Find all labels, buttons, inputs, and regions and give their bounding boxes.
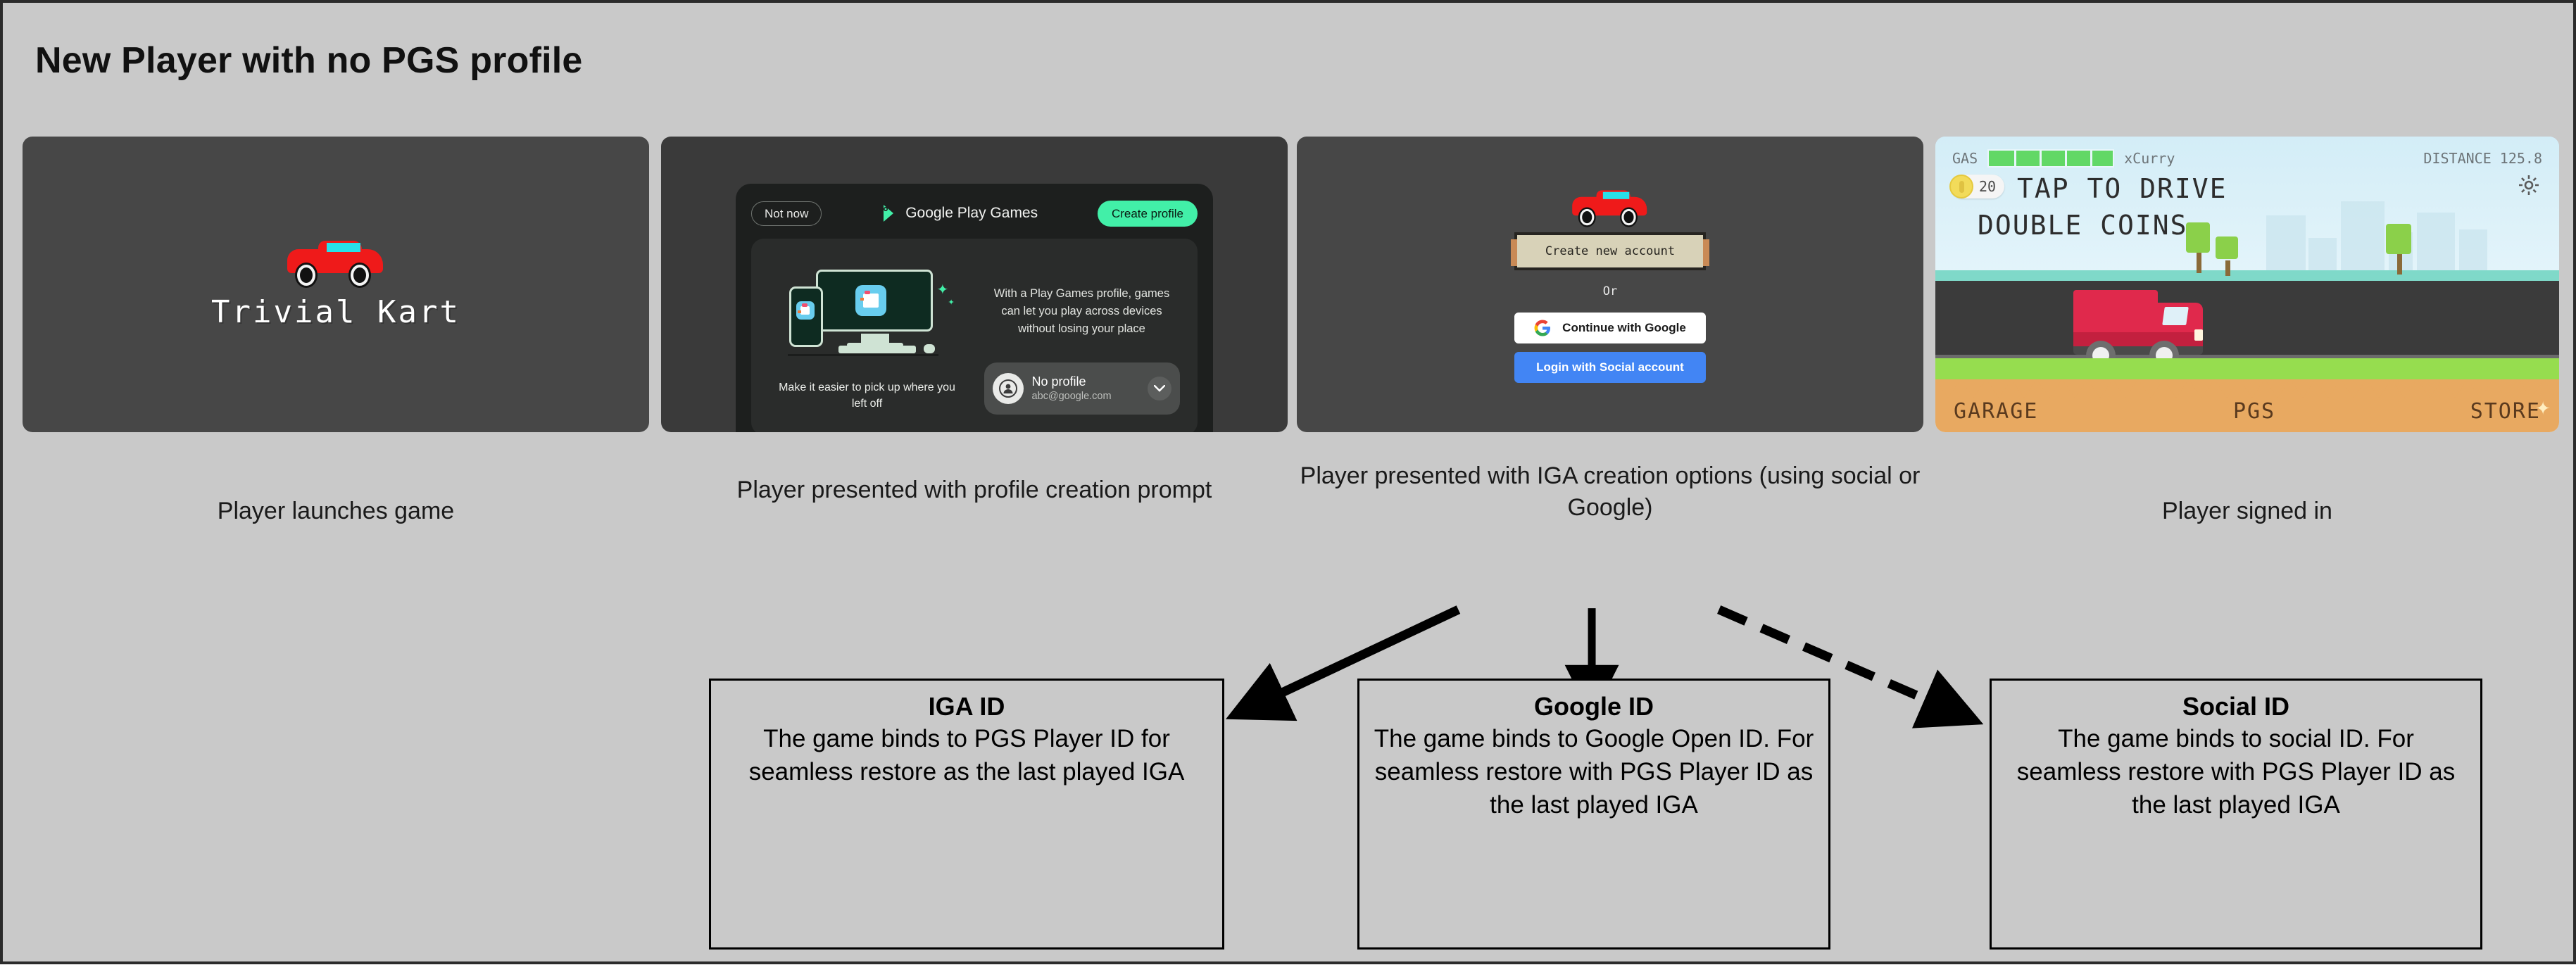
- pixel-car-icon: [283, 239, 389, 283]
- panel-splash-screen: Trivial Kart: [23, 137, 649, 432]
- profile-blurb: With a Play Games profile, games can let…: [984, 285, 1181, 337]
- create-profile-button[interactable]: Create profile: [1098, 201, 1198, 227]
- coin-icon: [1949, 175, 1973, 198]
- tree-icon: [2216, 236, 2238, 276]
- social-id-body: The game binds to social ID. For seamles…: [2004, 723, 2468, 822]
- diagram-canvas: New Player with no PGS profile Trivial K…: [0, 0, 2576, 964]
- coin-count: 20: [1979, 178, 1996, 195]
- chevron-down-icon[interactable]: [1148, 377, 1171, 400]
- cross-device-illustration: ✦ ✦: [779, 270, 955, 361]
- tree-icon: [2386, 224, 2411, 275]
- game-app-icon: [855, 285, 886, 316]
- pgs-bottom-sheet: Not now Google Play Games Create profile: [736, 184, 1213, 432]
- google-play-games-brand: Google Play Games: [881, 204, 1038, 222]
- caption-panel-3: Player presented with IGA creation optio…: [1297, 460, 1923, 524]
- gas-bar: [1987, 149, 2114, 168]
- not-now-button[interactable]: Not now: [751, 201, 822, 226]
- google-button-label: Continue with Google: [1562, 321, 1686, 335]
- player-name: xCurry: [2124, 150, 2175, 167]
- profile-name: No profile: [1032, 374, 1139, 390]
- google-id-box: Google ID The game binds to Google Open …: [1357, 679, 1830, 950]
- profile-email: abc@google.com: [1032, 390, 1139, 403]
- gas-label: GAS: [1952, 150, 1978, 167]
- social-id-box: Social ID The game binds to social ID. F…: [1990, 679, 2482, 950]
- nav-pgs-button[interactable]: PGS: [2233, 399, 2275, 424]
- illustration-column: ✦ ✦ Make it easier to pick up where you …: [765, 257, 969, 432]
- pgs-sheet-body: ✦ ✦ Make it easier to pick up where you …: [751, 239, 1198, 432]
- profile-column: With a Play Games profile, games can let…: [980, 257, 1183, 432]
- play-games-logo-icon: [881, 204, 898, 222]
- google-g-icon: [1534, 320, 1551, 336]
- login-with-social-button[interactable]: Login with Social account: [1514, 352, 1706, 383]
- panel-pgs-profile-prompt: Not now Google Play Games Create profile: [661, 137, 1288, 432]
- gas-gauge: GAS xCurry: [1952, 149, 2175, 168]
- profile-selector[interactable]: No profile abc@google.com: [984, 362, 1180, 415]
- nav-garage-button[interactable]: GARAGE: [1954, 399, 2038, 424]
- splash-content: Trivial Kart: [23, 137, 649, 432]
- panel-signed-in-game: GAS xCurry DISTANCE 125.8 20 TAP TO DRIV…: [1935, 137, 2559, 432]
- iga-id-title: IGA ID: [724, 690, 1210, 723]
- iga-id-body: The game binds to PGS Player ID for seam…: [724, 723, 1210, 789]
- tree-icon: [2186, 222, 2210, 273]
- pgs-sheet-header: Not now Google Play Games Create profile: [751, 194, 1198, 233]
- iga-options-content: Create new account Or Continue with Goog…: [1297, 137, 1923, 432]
- iga-id-box: IGA ID The game binds to PGS Player ID f…: [709, 679, 1224, 950]
- sparkle-icon: ✦: [937, 281, 949, 298]
- road: [1935, 281, 2559, 358]
- continue-with-google-button[interactable]: Continue with Google: [1514, 313, 1706, 343]
- game-hud-top: GAS xCurry DISTANCE 125.8: [1952, 149, 2542, 168]
- sparkle-icon-small: ✦: [948, 298, 955, 307]
- game-app-icon-small: [796, 301, 815, 320]
- tap-to-drive-text: TAP TO DRIVE: [2017, 173, 2228, 204]
- avatar-icon: [993, 373, 1024, 404]
- coin-counter: 20: [1951, 175, 2004, 198]
- page-title: New Player with no PGS profile: [35, 39, 583, 82]
- store-sparkle-icon: ✦: [2535, 398, 2551, 420]
- profile-text: No profile abc@google.com: [1032, 374, 1139, 403]
- settings-gear-icon[interactable]: [2517, 173, 2541, 197]
- google-id-title: Google ID: [1372, 690, 1816, 723]
- caption-panel-4: Player signed in: [1935, 496, 2559, 527]
- nav-store-button[interactable]: STORE: [2470, 399, 2541, 424]
- brand-label: Google Play Games: [905, 205, 1038, 222]
- or-divider-label: Or: [1603, 284, 1617, 298]
- create-new-account-button[interactable]: Create new account: [1514, 232, 1706, 270]
- social-id-title: Social ID: [2004, 690, 2468, 723]
- pixel-car-icon: [1569, 189, 1652, 223]
- player-truck: [2073, 286, 2204, 363]
- illustration-caption: Make it easier to pick up where you left…: [776, 379, 959, 412]
- double-coins-text: DOUBLE COINS: [1978, 210, 2188, 241]
- caption-panel-2: Player presented with profile creation p…: [661, 474, 1288, 506]
- game-title: Trivial Kart: [211, 294, 460, 330]
- caption-panel-1: Player launches game: [23, 496, 649, 527]
- google-id-body: The game binds to Google Open ID. For se…: [1372, 723, 1816, 822]
- panel-iga-creation-options: Create new account Or Continue with Goog…: [1297, 137, 1923, 432]
- distance-readout: DISTANCE 125.8: [2423, 150, 2542, 167]
- game-bottom-nav: GARAGE PGS STORE: [1935, 396, 2559, 427]
